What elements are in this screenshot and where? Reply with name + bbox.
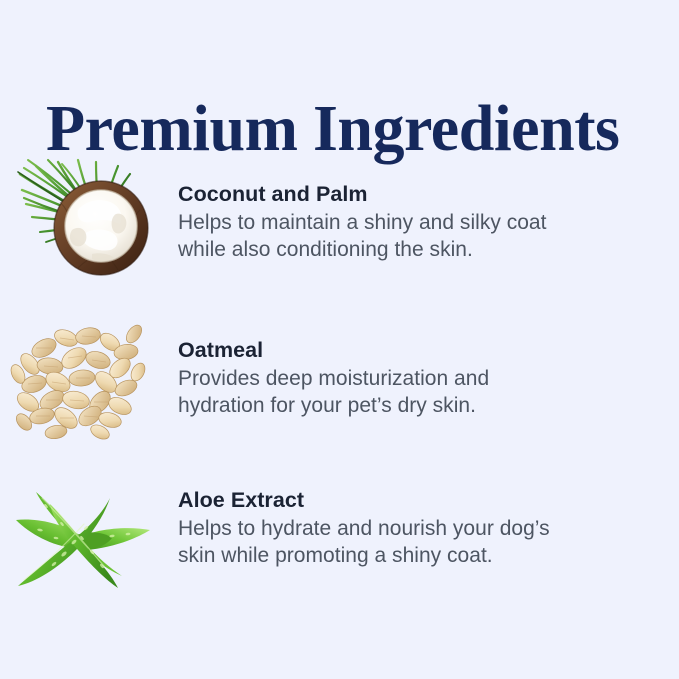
- ingredient-name: Oatmeal: [178, 336, 679, 364]
- coconut-and-palm-icon: [0, 150, 170, 282]
- ingredient-row: Coconut and Palm Helps to maintain a shi…: [0, 150, 679, 282]
- ingredient-row: Aloe Extract Helps to hydrate and nouris…: [0, 468, 679, 600]
- premium-ingredients-page: Premium Ingredients: [0, 0, 679, 679]
- description-line: while also conditioning the skin.: [178, 236, 578, 263]
- ingredient-row: Oatmeal Provides deep moisturization and…: [0, 312, 679, 444]
- oatmeal-icon: [0, 312, 170, 444]
- ingredient-text-block: Aloe Extract Helps to hydrate and nouris…: [170, 468, 679, 569]
- description-line: Provides deep moisturization and: [178, 365, 578, 392]
- aloe-extract-icon: [0, 468, 170, 600]
- description-line: skin while promoting a shiny coat.: [178, 542, 578, 569]
- ingredient-description: Helps to hydrate and nourish your dog’s …: [178, 515, 578, 569]
- ingredient-description: Provides deep moisturization and hydrati…: [178, 365, 578, 419]
- ingredient-text-block: Oatmeal Provides deep moisturization and…: [170, 312, 679, 419]
- ingredient-name: Coconut and Palm: [178, 180, 679, 208]
- ingredient-name: Aloe Extract: [178, 486, 679, 514]
- ingredient-description: Helps to maintain a shiny and silky coat…: [178, 209, 578, 263]
- ingredient-text-block: Coconut and Palm Helps to maintain a shi…: [170, 150, 679, 263]
- description-line: hydration for your pet’s dry skin.: [178, 392, 578, 419]
- oat-flakes: [8, 322, 148, 442]
- description-line: Helps to maintain a shiny and silky coat: [178, 209, 578, 236]
- description-line: Helps to hydrate and nourish your dog’s: [178, 515, 578, 542]
